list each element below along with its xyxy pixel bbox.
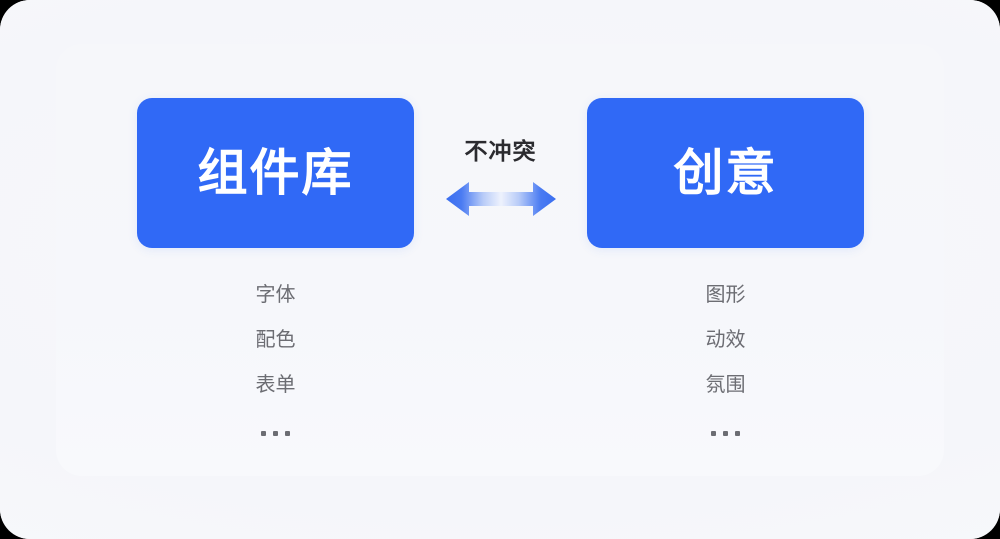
card-creativity-title: 创意 (674, 148, 778, 198)
list-item: 图形 (587, 285, 864, 305)
connector-group: 不冲突 (414, 98, 587, 248)
list-item: 表单 (137, 375, 414, 395)
list-item-ellipsis: ... (587, 420, 864, 440)
list-item-ellipsis: ... (137, 420, 414, 440)
list-item: 配色 (137, 330, 414, 350)
ellipsis-icon (711, 431, 740, 436)
diagram-canvas: 组件库 不冲突 (0, 0, 1000, 539)
list-creativity-items: 图形 动效 氛围 ... (587, 285, 864, 465)
list-component-library-items: 字体 配色 表单 ... (137, 285, 414, 465)
connector-label: 不冲突 (414, 140, 587, 163)
double-headed-arrow-icon (446, 181, 556, 217)
list-item: 氛围 (587, 375, 864, 395)
card-component-library-title: 组件库 (198, 148, 354, 198)
card-creativity[interactable]: 创意 (587, 98, 864, 248)
list-item: 字体 (137, 285, 414, 305)
card-component-library[interactable]: 组件库 (137, 98, 414, 248)
list-item: 动效 (587, 330, 864, 350)
ellipsis-icon (261, 431, 290, 436)
